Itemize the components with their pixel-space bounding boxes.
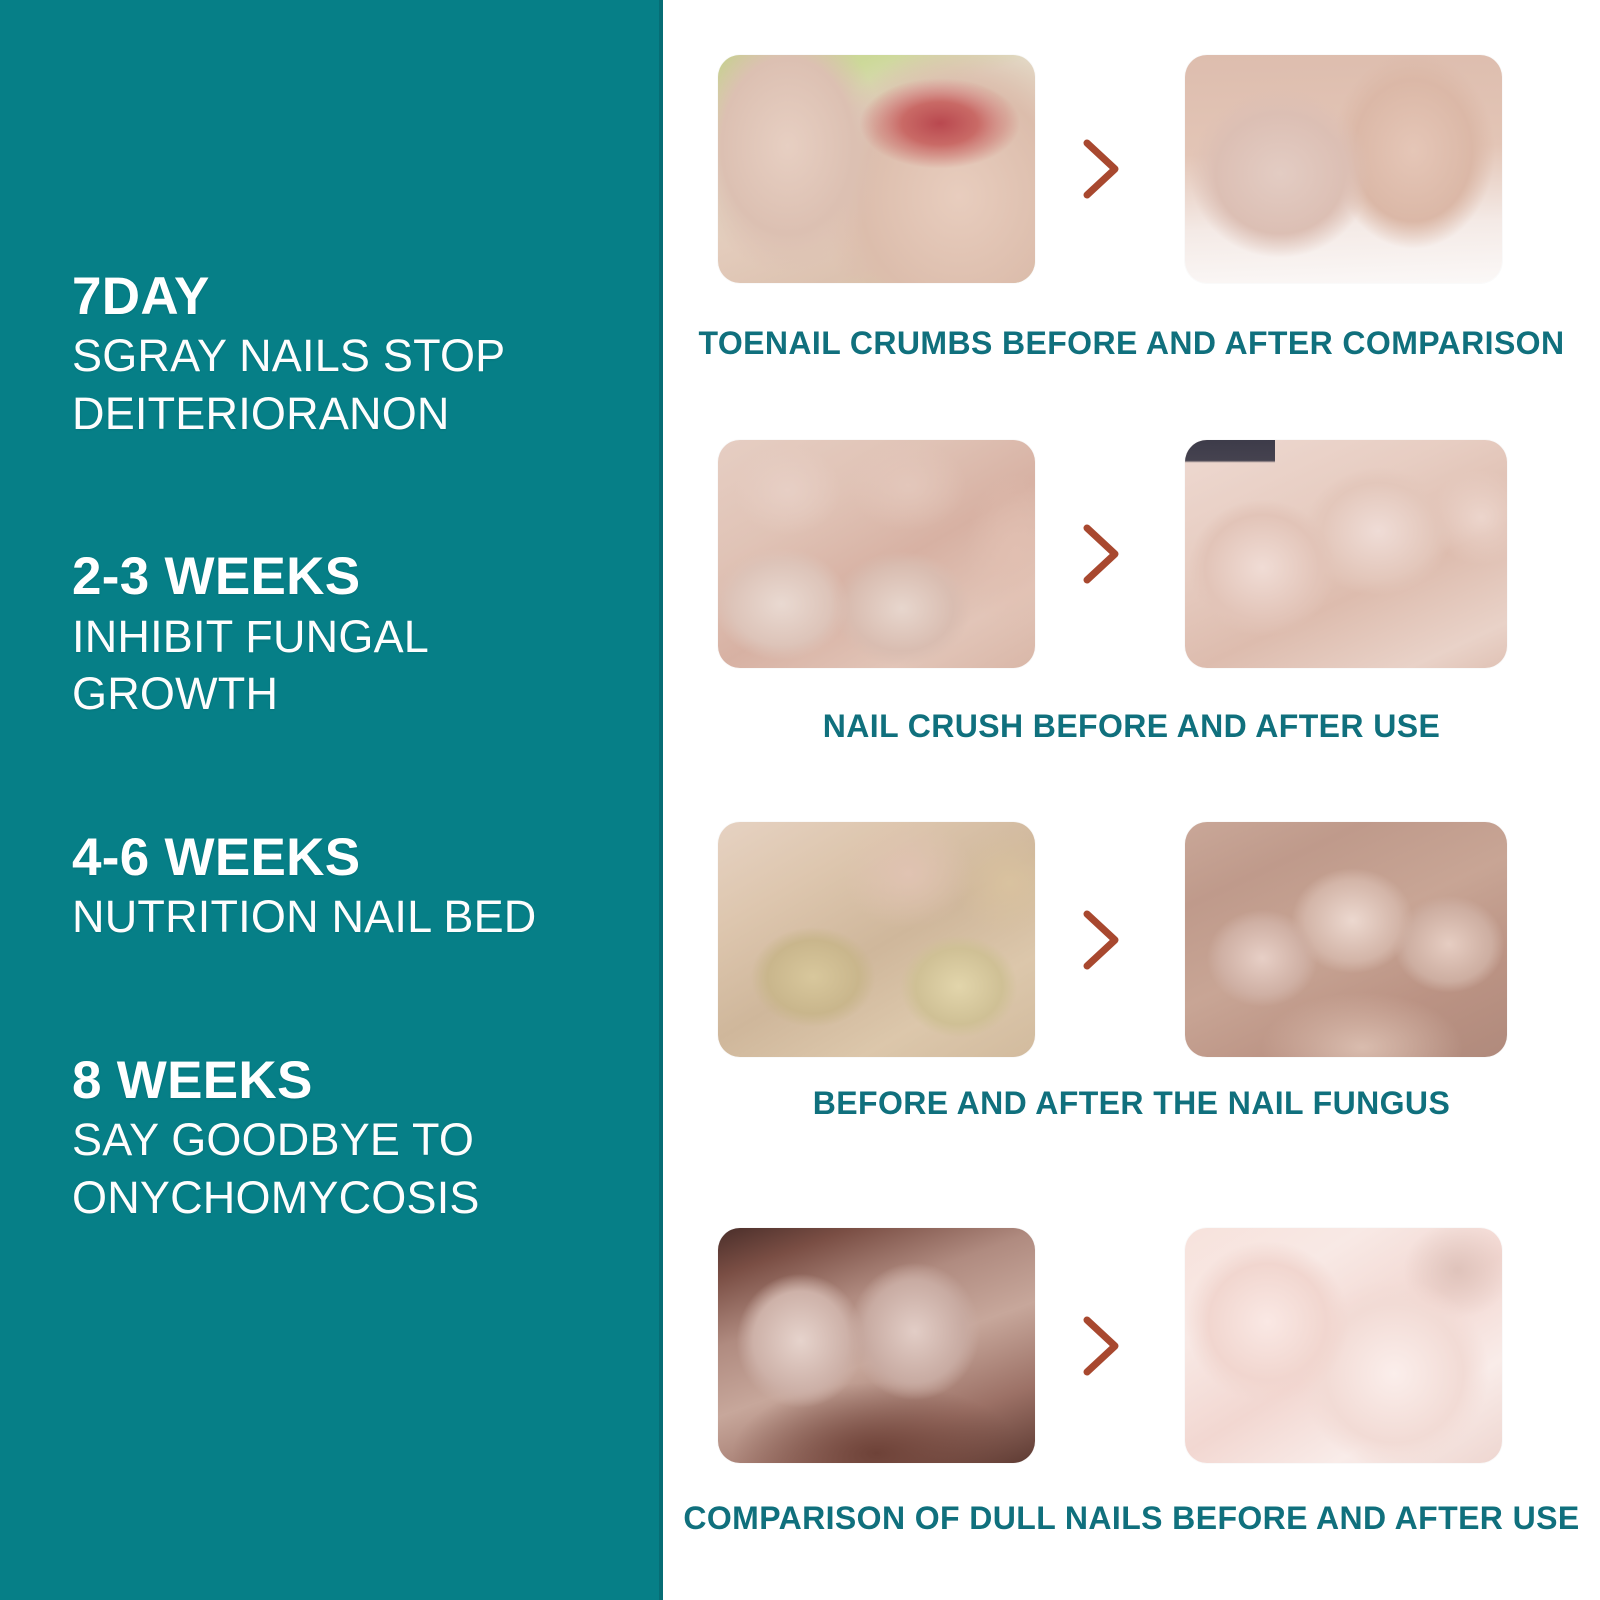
photo-image [1185,55,1502,283]
after-photo-nail-fungus [1185,822,1507,1057]
photo-image [718,822,1035,1057]
photo-image [718,1228,1035,1463]
benefit-body: INHIBIT FUNGAL GROWTH [72,608,637,723]
benefit-body: NUTRITION NAIL BED [72,888,637,946]
photo-image [718,440,1035,668]
chevron-right-icon [1071,131,1129,207]
chevron-right-icon [1071,516,1129,592]
benefit-heading: 4-6 WEEKS [72,829,637,886]
timeline-benefits-panel: 7DAY SGRAY NAILS STOP DEITERIORANON 2-3 … [0,0,663,1600]
after-photo-dull-nails [1185,1228,1502,1463]
caption-nail-fungus: BEFORE AND AFTER THE NAIL FUNGUS [663,1085,1600,1122]
benefit-item-7day: 7DAY SGRAY NAILS STOP DEITERIORANON [72,268,637,442]
comparison-pair [663,440,1600,668]
benefit-body-line: NUTRITION NAIL BED [72,888,637,946]
caption-dull-nails: COMPARISON OF DULL NAILS BEFORE AND AFTE… [657,1500,1600,1537]
before-after-gallery-panel: TOENAIL CRUMBS BEFORE AND AFTER COMPARIS… [663,0,1600,1600]
caption-toenail-crumbs: TOENAIL CRUMBS BEFORE AND AFTER COMPARIS… [663,325,1600,362]
benefit-body: SGRAY NAILS STOP DEITERIORANON [72,327,637,442]
photo-image [718,55,1035,283]
product-benefit-infographic: 7DAY SGRAY NAILS STOP DEITERIORANON 2-3 … [0,0,1600,1600]
benefit-item-4-6-weeks: 4-6 WEEKS NUTRITION NAIL BED [72,829,637,946]
benefit-body-line: DEITERIORANON [72,385,637,443]
benefit-heading: 8 WEEKS [72,1052,637,1109]
benefit-body-line: GROWTH [72,665,637,723]
benefit-heading: 7DAY [72,268,637,325]
photo-image [1185,440,1507,668]
benefit-item-8-weeks: 8 WEEKS SAY GOODBYE TO ONYCHOMYCOSIS [72,1052,637,1226]
comparison-pair [663,822,1600,1057]
comparison-row-nail-fungus [663,822,1600,1057]
benefit-body-line: SGRAY NAILS STOP [72,327,637,385]
comparison-pair [663,1228,1600,1463]
benefit-list: 7DAY SGRAY NAILS STOP DEITERIORANON 2-3 … [72,268,637,1226]
comparison-row-toenail-crumbs [663,55,1600,283]
after-photo-nail-crush [1185,440,1507,668]
comparison-row-nail-crush [663,440,1600,668]
benefit-body-line: INHIBIT FUNGAL [72,608,637,666]
benefit-body-line: SAY GOODBYE TO [72,1111,637,1169]
comparison-row-dull-nails [663,1228,1600,1463]
benefit-item-2-3-weeks: 2-3 WEEKS INHIBIT FUNGAL GROWTH [72,548,637,722]
comparison-pair [663,55,1600,283]
before-photo-toenail-crumbs [718,55,1035,283]
chevron-right-icon [1071,902,1129,978]
benefit-heading: 2-3 WEEKS [72,548,637,605]
after-photo-toenail-crumbs [1185,55,1502,283]
chevron-right-icon [1071,1308,1129,1384]
benefit-body: SAY GOODBYE TO ONYCHOMYCOSIS [72,1111,637,1226]
before-photo-nail-crush [718,440,1035,668]
photo-image [1185,1228,1502,1463]
before-photo-nail-fungus [718,822,1035,1057]
photo-image [1185,822,1507,1057]
benefit-body-line: ONYCHOMYCOSIS [72,1169,637,1227]
caption-nail-crush: NAIL CRUSH BEFORE AND AFTER USE [663,708,1600,745]
before-photo-dull-nails [718,1228,1035,1463]
